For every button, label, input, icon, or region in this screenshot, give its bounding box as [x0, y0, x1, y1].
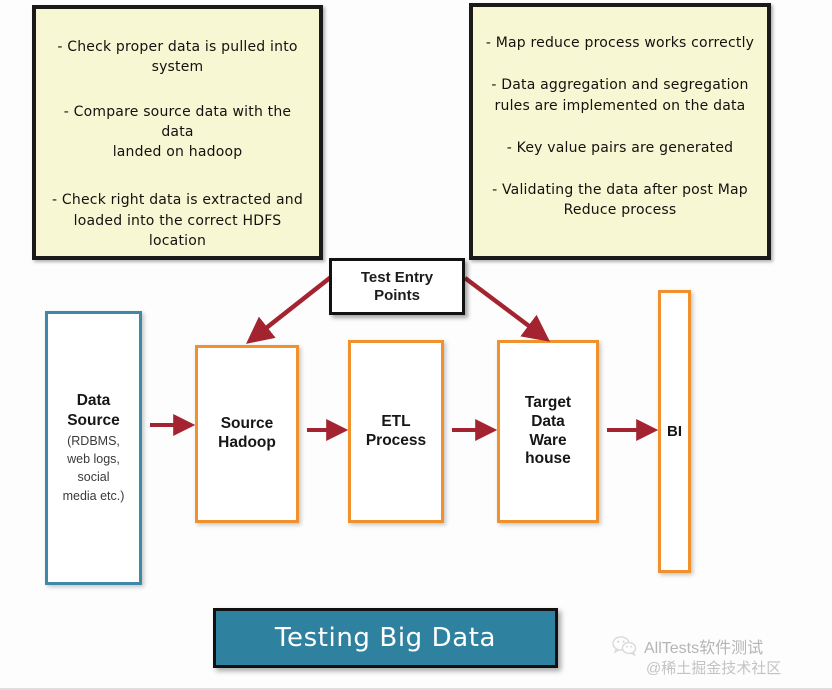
note-left: - Check proper data is pulled into syste…: [32, 5, 323, 260]
title-banner-text: Testing Big Data: [275, 623, 496, 653]
arrow-entry-to-target: [465, 278, 545, 338]
test-entry-points-label: Test Entry Points: [361, 269, 433, 304]
data-source-title: Data Source: [63, 391, 125, 430]
bi-box: BI: [658, 290, 691, 573]
note-right-item-4: - Validating the data after post Map Red…: [485, 180, 755, 221]
watermark: AllTests软件测试 @稀土掘金技术社区: [612, 634, 826, 686]
watermark-row-1: AllTests软件测试: [612, 634, 763, 658]
target-warehouse-label: Target Data Ware house: [525, 394, 571, 468]
etl-process-label: ETL Process: [366, 413, 426, 450]
test-entry-points-box: Test Entry Points: [329, 258, 465, 315]
note-right-item-1: - Map reduce process works correctly: [485, 33, 755, 53]
data-source-subtitle: (RDBMS, web logs, social media etc.): [63, 432, 125, 505]
bi-label: BI: [667, 423, 682, 441]
note-right: - Map reduce process works correctly - D…: [469, 3, 771, 260]
note-left-item-1: - Check proper data is pulled into syste…: [48, 37, 307, 78]
etl-process-box: ETL Process: [348, 340, 444, 523]
watermark-line-2: @稀土掘金技术社区: [646, 657, 781, 678]
source-hadoop-label: Source Hadoop: [218, 415, 276, 452]
note-left-item-2: - Compare source data with the data land…: [48, 102, 307, 163]
data-source-box: Data Source (RDBMS, web logs, social med…: [45, 311, 142, 585]
wechat-icon: [612, 635, 638, 657]
watermark-line-1: AllTests软件测试: [644, 634, 763, 658]
note-right-item-2: - Data aggregation and segregation rules…: [485, 75, 755, 116]
diagram-canvas: - Check proper data is pulled into syste…: [0, 0, 832, 690]
note-left-item-3: - Check right data is extracted and load…: [48, 190, 307, 251]
title-banner: Testing Big Data: [213, 608, 558, 668]
target-warehouse-box: Target Data Ware house: [497, 340, 599, 523]
arrow-entry-to-source: [251, 277, 331, 340]
source-hadoop-box: Source Hadoop: [195, 345, 299, 523]
note-right-item-3: - Key value pairs are generated: [485, 138, 755, 158]
